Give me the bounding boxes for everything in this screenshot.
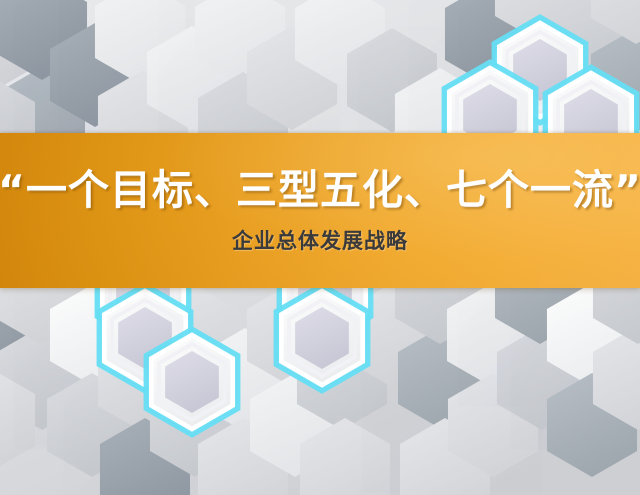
page-title: “一个目标、三型五化、七个一流” xyxy=(0,170,640,211)
presentation-slide: “一个目标、三型五化、七个一流” 企业总体发展战略 xyxy=(0,0,640,495)
banner-content: “一个目标、三型五化、七个一流” 企业总体发展战略 xyxy=(0,133,640,288)
page-subtitle: 企业总体发展战略 xyxy=(232,231,408,252)
title-banner: “一个目标、三型五化、七个一流” 企业总体发展战略 xyxy=(0,133,640,288)
